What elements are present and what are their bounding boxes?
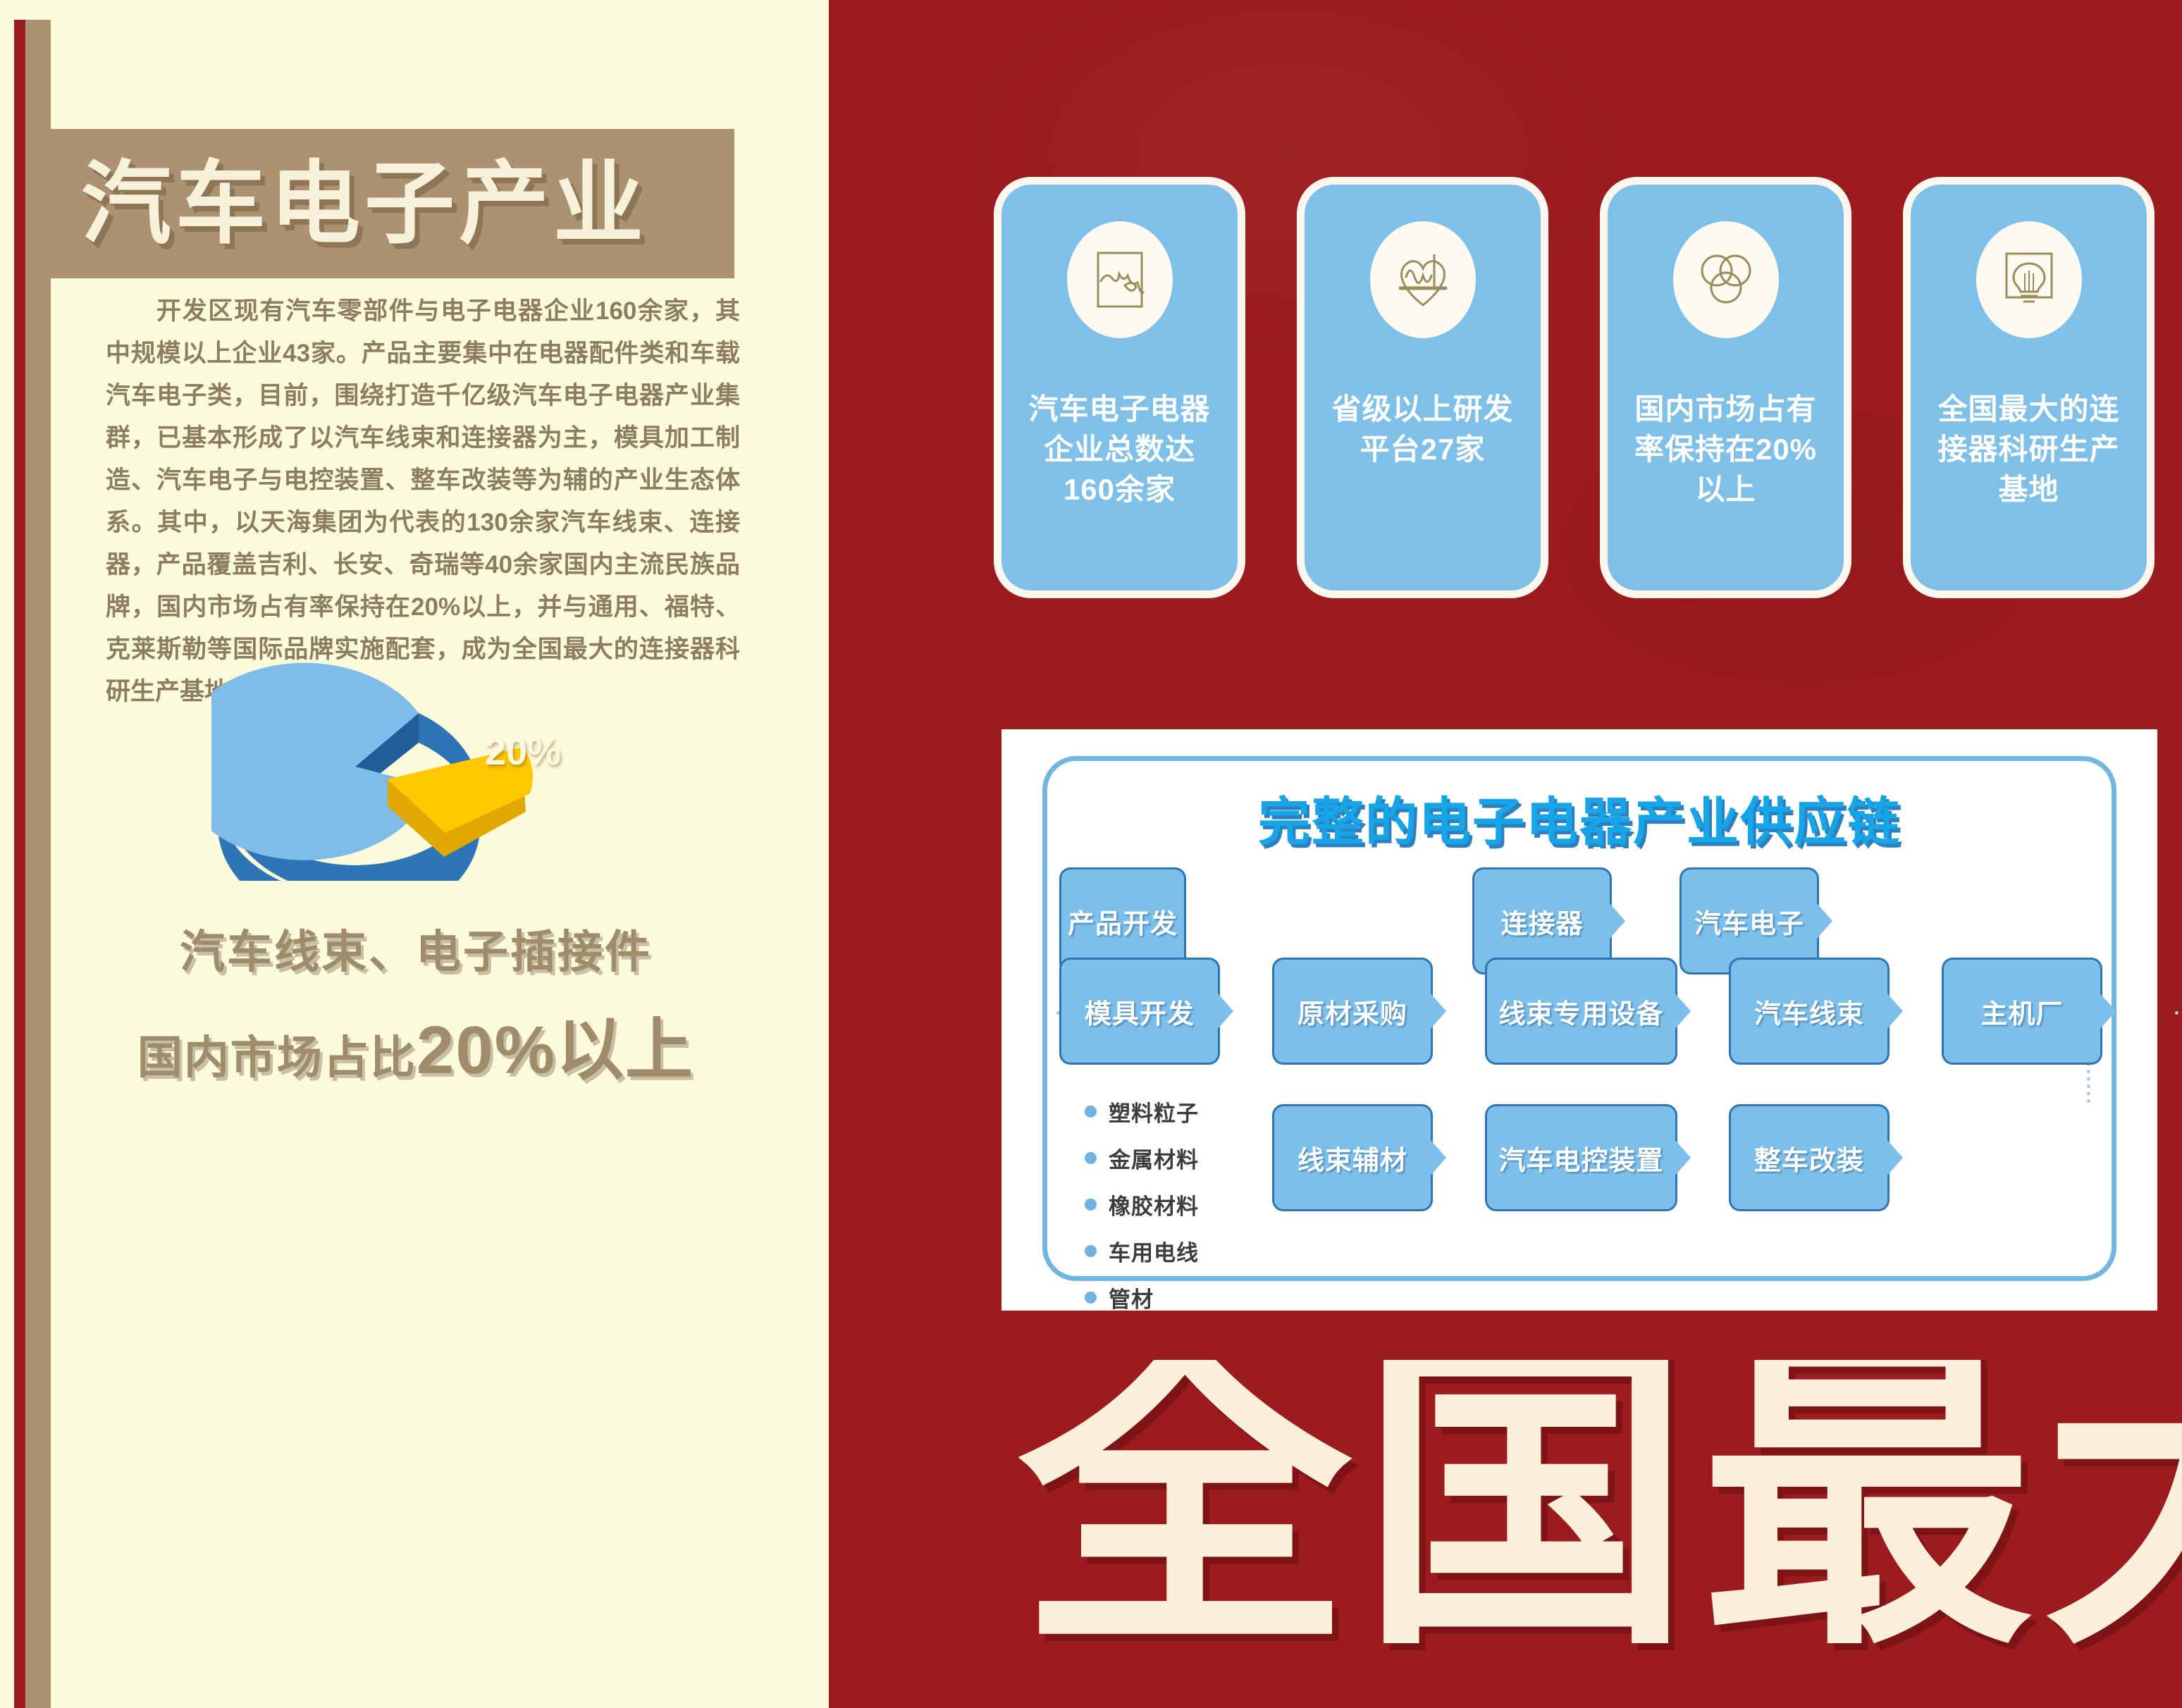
bullet-dot-icon [1085,1152,1097,1164]
chart-document-icon [1067,221,1173,338]
supply-chain-title: 完整的电子电器产业供应链 [1001,780,2157,855]
chain-node-oem-plant[interactable]: 主机厂 [1942,958,2102,1065]
bullet-dot-icon [1085,1106,1097,1118]
stat-card-3-label: 国内市场占有率保持在20%以上 [1620,389,1831,509]
bottom-headline: 全国最大 [1019,1360,2182,1663]
list-item: 管材 [1085,1282,1296,1313]
infographic-page: 汽车电子产业 开发区现有汽车零部件与电子电器企业160余家，其中规模以上企业43… [0,0,2182,1708]
supply-chain-panel: 完整的电子电器产业供应链 产品开发 连接器 汽车电子 模具开发 原材采购 线束专… [1001,729,2157,1311]
chain-node-harness-aux[interactable]: 线束辅材 [1272,1104,1433,1211]
stat-card-3[interactable]: 国内市场占有率保持在20%以上 [1608,185,1844,590]
bullet-label: 金属材料 [1109,1142,1199,1174]
three-circles-icon [1673,221,1779,338]
pie-caption-prefix: 国内市场占比 [137,1032,417,1083]
market-share-pie-chart: 20% [211,648,648,881]
chain-node-mold-dev[interactable]: 模具开发 [1059,958,1220,1065]
bullet-label: 橡胶材料 [1109,1189,1199,1220]
chain-node-auto-harness[interactable]: 汽车线束 [1729,958,1890,1065]
list-item: 金属材料 [1085,1142,1296,1174]
pie-caption-emphasis: 20%以上 [417,1013,694,1088]
stat-card-4-label: 全国最大的连接器科研生产基地 [1923,389,2134,509]
pie-slice-label: 20% [474,730,572,774]
page-title: 汽车电子产业 [81,144,715,264]
bullet-label: 车用电线 [1109,1235,1199,1267]
list-item: 车用电线 [1085,1235,1296,1267]
bullet-dot-icon [1085,1199,1097,1211]
chain-node-vehicle-mod[interactable]: 整车改装 [1729,1104,1890,1211]
bullet-dot-icon [1085,1245,1097,1257]
pie-chart-svg [211,648,648,881]
lightbulb-frame-icon [1976,221,2082,338]
stat-card-2-label: 省级以上研发平台27家 [1317,389,1528,469]
heart-pulse-icon [1370,221,1476,338]
stat-card-2[interactable]: 省级以上研发平台27家 [1305,185,1541,590]
chain-node-raw-purchase[interactable]: 原材采购 [1272,958,1433,1065]
chain-dash-right-out [2175,1011,2182,1015]
bottom-headline-area: 全国最大 [829,1360,2182,1708]
list-item: 塑料粒子 [1085,1096,1296,1127]
pie-caption-line-2: 国内市场占比20%以上 [56,995,775,1093]
stat-card-1[interactable]: 汽车电子电器企业总数达160余家 [1001,185,1238,590]
left-panel: 汽车电子产业 开发区现有汽车零部件与电子电器企业160余家，其中规模以上企业43… [0,0,829,1708]
bullet-label: 管材 [1109,1282,1154,1313]
pie-blue-top [211,663,431,860]
pie-caption-line-1: 汽车线束、电子插接件 [85,916,747,981]
stat-card-4[interactable]: 全国最大的连接器科研生产基地 [1911,185,2147,590]
raw-material-bullet-list: 塑料粒子 金属材料 橡胶材料 车用电线 管材 [1085,1096,1296,1328]
chain-node-harness-equip[interactable]: 线束专用设备 [1485,958,1677,1065]
bullet-dot-icon [1085,1292,1097,1304]
left-red-accent-strip [14,20,25,1708]
chain-node-auto-ecu[interactable]: 汽车电控装置 [1485,1104,1677,1211]
bullet-label: 塑料粒子 [1109,1096,1199,1127]
stat-cards-row: 汽车电子电器企业总数达160余家 省级以上研发平台27家 [1001,185,2157,593]
list-item: 橡胶材料 [1085,1189,1296,1220]
stat-card-1-label: 汽车电子电器企业总数达160余家 [1014,389,1225,509]
